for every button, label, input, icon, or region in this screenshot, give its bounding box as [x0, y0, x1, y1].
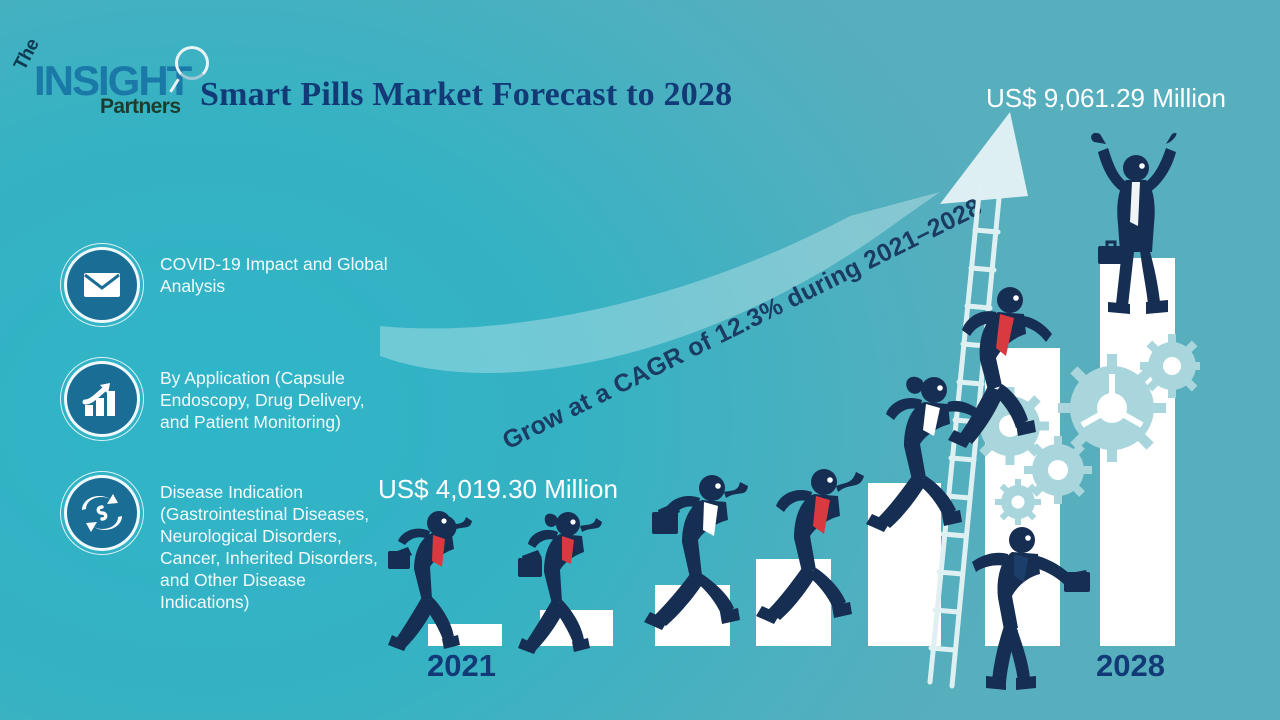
value-label-end: US$ 9,061.29 Million — [986, 83, 1226, 114]
climbing-businessman-6 — [948, 287, 1052, 448]
running-businessman-3 — [644, 475, 748, 630]
ladder-holding-businessman — [972, 527, 1090, 690]
running-businessman-1 — [388, 511, 472, 651]
year-label-end: 2028 — [1096, 648, 1165, 684]
year-label-start: 2021 — [427, 648, 496, 684]
value-label-start: US$ 4,019.30 Million — [378, 474, 618, 505]
running-businessman-4 — [756, 469, 864, 624]
celebrating-businessman — [1091, 133, 1176, 314]
running-businesswoman-5 — [866, 377, 982, 532]
infographic-canvas: The INSIGHT Partners Smart Pills Market … — [0, 0, 1280, 720]
running-businesswoman-2 — [518, 512, 602, 654]
